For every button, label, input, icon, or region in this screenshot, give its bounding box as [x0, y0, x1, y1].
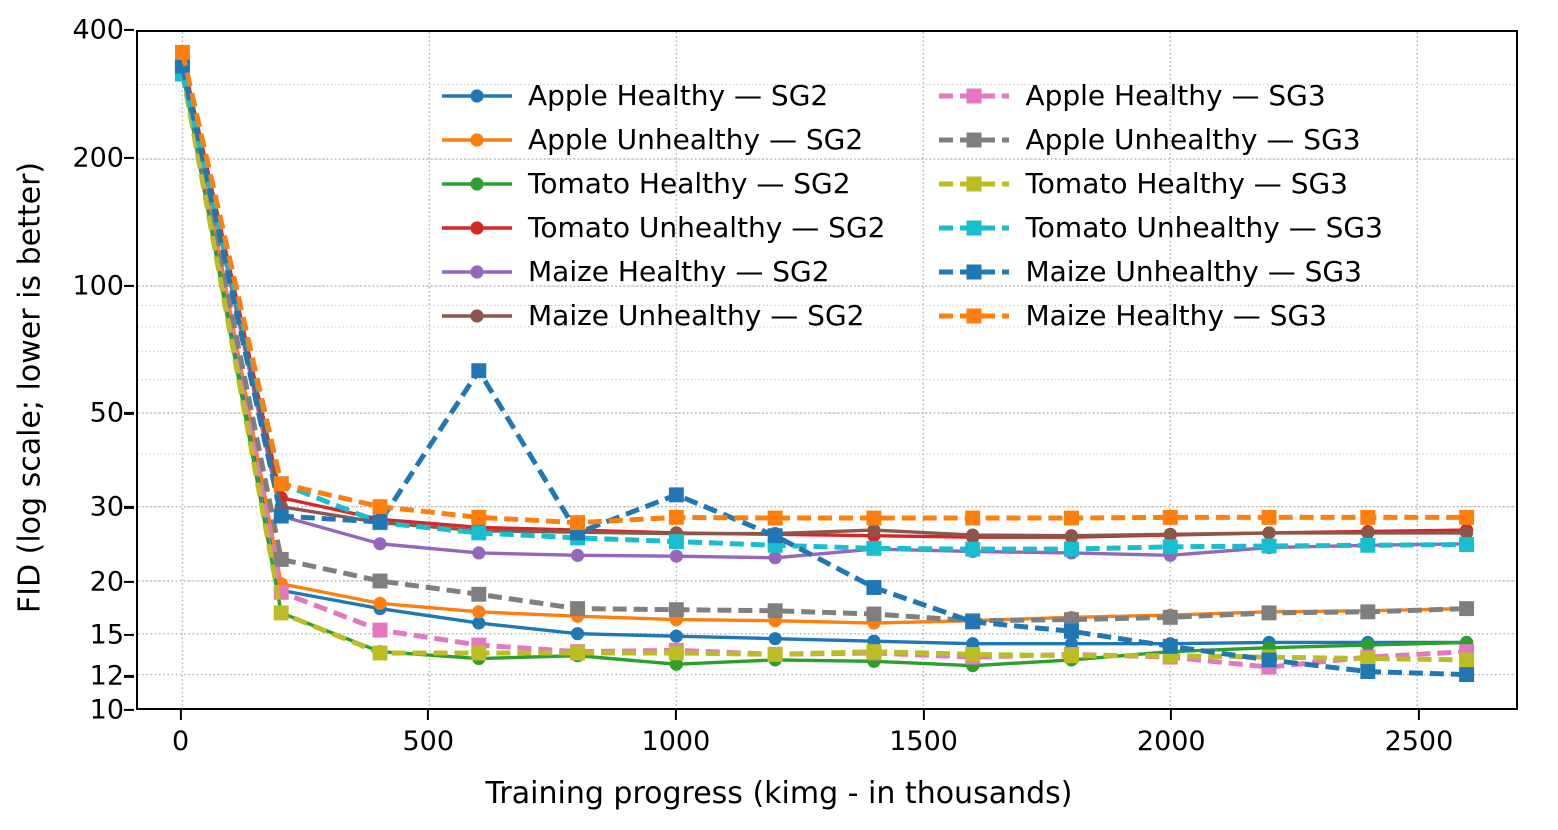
y-axis-label: FID (log scale; lower is better) [13, 48, 48, 728]
legend-entry: Maize Healthy — SG2 [440, 250, 885, 294]
legend-swatch-icon [440, 217, 514, 239]
chart-legend: Apple Healthy — SG2Apple Healthy — SG3Ap… [440, 74, 1383, 338]
x-tick-label: 0 [172, 726, 189, 757]
y-tick-mark [124, 581, 134, 583]
legend-swatch-icon [440, 85, 514, 107]
y-tick-label: 100 [72, 270, 124, 301]
legend-entry: Tomato Healthy — SG3 [937, 162, 1382, 206]
legend-swatch-icon [440, 261, 514, 283]
y-tick-mark [124, 284, 134, 286]
legend-swatch-icon [440, 173, 514, 195]
legend-swatch-icon [937, 217, 1011, 239]
y-tick-label: 200 [72, 142, 124, 173]
y-tick-label: 400 [72, 15, 124, 46]
legend-entry: Tomato Unhealthy — SG2 [440, 206, 885, 250]
legend-entry: Maize Unhealthy — SG2 [440, 294, 885, 338]
y-tick-label: 30 [90, 492, 124, 523]
x-tick-mark [179, 710, 181, 720]
legend-swatch-icon [937, 173, 1011, 195]
x-tick-label: 1000 [642, 726, 711, 757]
y-tick-label: 50 [90, 398, 124, 429]
legend-swatch-icon [937, 129, 1011, 151]
legend-label: Tomato Healthy — SG2 [528, 170, 851, 198]
legend-entry: Apple Healthy — SG2 [440, 74, 885, 118]
legend-label: Apple Healthy — SG2 [528, 82, 828, 110]
y-tick-mark [124, 29, 134, 31]
y-tick-mark [124, 675, 134, 677]
legend-entry: Maize Healthy — SG3 [937, 294, 1382, 338]
x-tick-mark [922, 710, 924, 720]
x-tick-label: 500 [402, 726, 454, 757]
x-tick-mark [675, 710, 677, 720]
legend-label: Maize Unhealthy — SG3 [1025, 258, 1361, 286]
y-tick-label: 20 [90, 567, 124, 598]
x-tick-label: 2000 [1137, 726, 1206, 757]
y-tick-mark [124, 634, 134, 636]
legend-entry: Tomato Unhealthy — SG3 [937, 206, 1382, 250]
legend-label: Maize Healthy — SG2 [528, 258, 830, 286]
legend-label: Tomato Healthy — SG3 [1025, 170, 1348, 198]
y-tick-label: 10 [90, 695, 124, 726]
x-tick-label: 2500 [1385, 726, 1454, 757]
legend-entry: Apple Unhealthy — SG2 [440, 118, 885, 162]
y-tick-mark [124, 506, 134, 508]
x-tick-mark [1418, 710, 1420, 720]
y-tick-mark [124, 157, 134, 159]
legend-label: Tomato Unhealthy — SG3 [1025, 214, 1382, 242]
y-tick-mark [124, 412, 134, 414]
legend-swatch-icon [440, 305, 514, 327]
chart-figure: 400200100503020151210 050010001500200025… [0, 0, 1558, 830]
legend-label: Apple Healthy — SG3 [1025, 82, 1325, 110]
legend-label: Tomato Unhealthy — SG2 [528, 214, 885, 242]
legend-label: Maize Healthy — SG3 [1025, 302, 1327, 330]
x-tick-label: 1500 [889, 726, 958, 757]
legend-swatch-icon [937, 261, 1011, 283]
legend-swatch-icon [440, 129, 514, 151]
x-tick-mark [1170, 710, 1172, 720]
y-tick-label: 12 [90, 661, 124, 692]
legend-entry: Maize Unhealthy — SG3 [937, 250, 1382, 294]
legend-label: Apple Unhealthy — SG3 [1025, 126, 1360, 154]
legend-swatch-icon [937, 85, 1011, 107]
legend-entry: Apple Unhealthy — SG3 [937, 118, 1382, 162]
legend-entry: Apple Healthy — SG3 [937, 74, 1382, 118]
legend-swatch-icon [937, 305, 1011, 327]
legend-label: Maize Unhealthy — SG2 [528, 302, 864, 330]
y-tick-mark [124, 709, 134, 711]
x-tick-mark [427, 710, 429, 720]
x-axis-label: Training progress (kimg - in thousands) [0, 776, 1558, 811]
legend-entry: Tomato Healthy — SG2 [440, 162, 885, 206]
legend-label: Apple Unhealthy — SG2 [528, 126, 863, 154]
y-tick-label: 15 [90, 620, 124, 651]
